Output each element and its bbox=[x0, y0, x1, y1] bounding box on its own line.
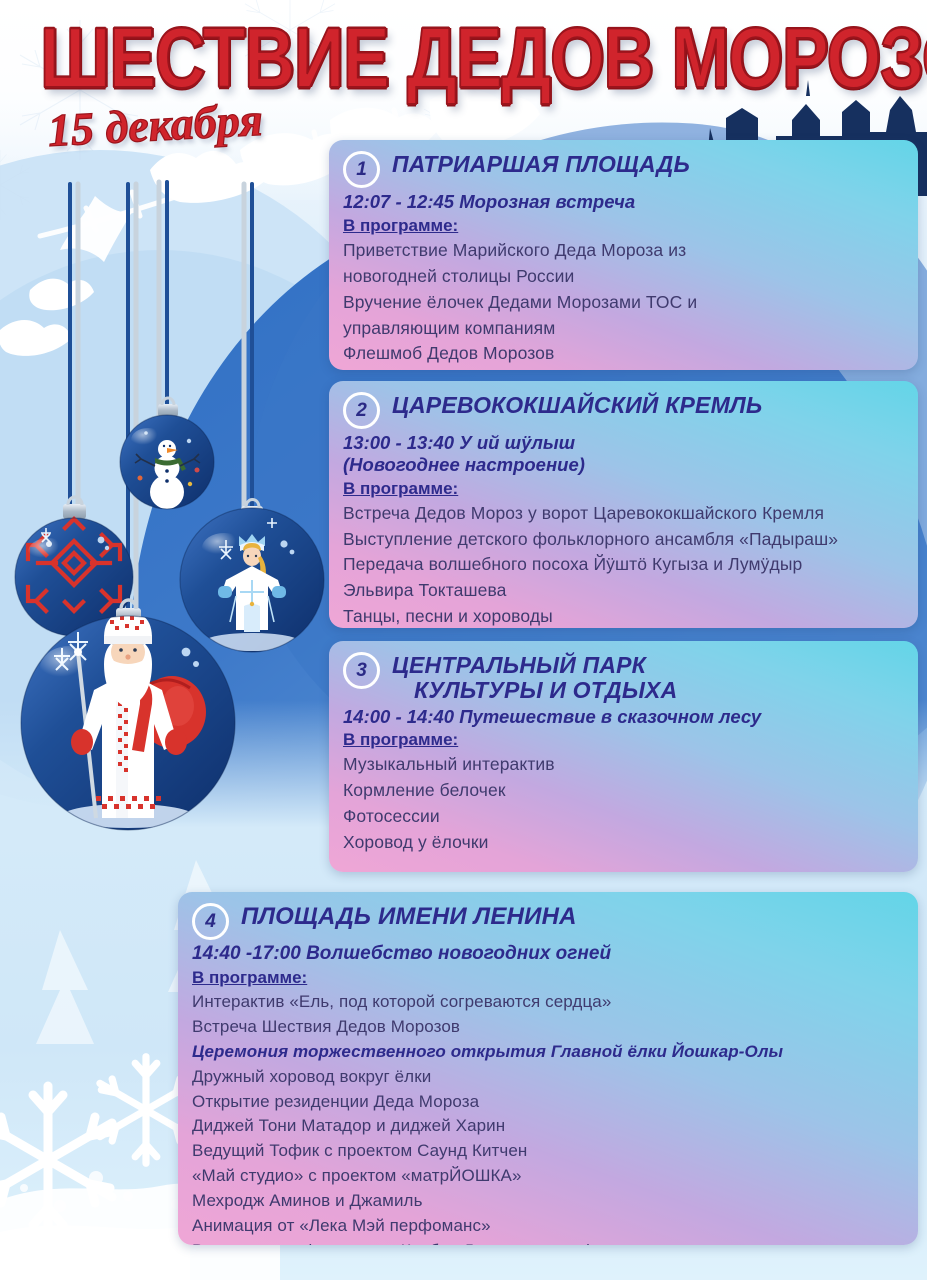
card-4-venue: ПЛОЩАДЬ ИМЕНИ ЛЕНИНА bbox=[241, 902, 577, 930]
card-1-venue-line1: ПАТРИАРШАЯ ПЛОЩАДЬ bbox=[392, 151, 690, 177]
card-2-items: Встреча Дедов Мороз у ворот Царевококшай… bbox=[343, 501, 904, 628]
card-1-program-label: В программе: bbox=[343, 216, 904, 236]
list-item: Приветствие Марийского Деда Мороза из bbox=[343, 238, 904, 264]
card-2-header: 2 ЦАРЕВОКОКШАЙСКИЙ КРЕМЛЬ bbox=[343, 391, 904, 429]
card-4-program-label: В программе: bbox=[192, 968, 904, 988]
list-item: управляющим компаниям bbox=[343, 316, 904, 342]
card-1-header: 1 ПАТРИАРШАЯ ПЛОЩАДЬ bbox=[343, 150, 904, 188]
card-2-time-line2: (Новогоднее настроение) bbox=[343, 454, 904, 476]
card-2-number-badge: 2 bbox=[343, 392, 380, 429]
card-1-time-line1: 12:07 - 12:45 Морозная встреча bbox=[343, 191, 635, 212]
card-4-number-badge: 4 bbox=[192, 903, 229, 940]
list-item: Вручение ёлочек Дедами Морозами ТОС и bbox=[343, 290, 904, 316]
list-item: Музыкальный интерактив bbox=[343, 752, 904, 778]
list-item: Передача волшебного посоха Йӱштӧ Кугыза … bbox=[343, 552, 904, 578]
list-item: Открытие резиденции Деда Мороза bbox=[192, 1090, 904, 1115]
list-item: Хоровод у ёлочки bbox=[343, 830, 904, 856]
list-item: Танцы, песни и хороводы bbox=[343, 604, 904, 628]
list-item: Ведущий Тофик с проектом Саунд Китчен bbox=[192, 1139, 904, 1164]
list-item: Фотосессии bbox=[343, 804, 904, 830]
list-item: Мехродж Аминов и Джамиль bbox=[192, 1189, 904, 1214]
list-item: Выступление детского фольклорного ансамб… bbox=[343, 527, 904, 553]
card-3-number-badge: 3 bbox=[343, 652, 380, 689]
program-card-2[interactable]: 2 ЦАРЕВОКОКШАЙСКИЙ КРЕМЛЬ 13:00 - 13:40 … bbox=[329, 381, 918, 628]
list-item: Выступление фигуристов Клуба «Движение» … bbox=[192, 1239, 904, 1245]
card-3-items: Музыкальный интерактив Кормление белочек… bbox=[343, 752, 904, 856]
card-1-items: Приветствие Марийского Деда Мороза из но… bbox=[343, 238, 904, 367]
card-4-items: Интерактив «Ель, под которой согреваются… bbox=[192, 990, 904, 1245]
list-item: Дружный хоровод вокруг ёлки bbox=[192, 1065, 904, 1090]
card-4-venue-line1: ПЛОЩАДЬ ИМЕНИ ЛЕНИНА bbox=[241, 903, 577, 930]
list-item: Интерактив «Ель, под которой согреваются… bbox=[192, 990, 904, 1015]
card-4-header: 4 ПЛОЩАДЬ ИМЕНИ ЛЕНИНА bbox=[192, 902, 904, 940]
card-2-time-line1: 13:00 - 13:40 У ий шӱлыш bbox=[343, 432, 575, 453]
poster-title: ШЕСТВИЕ ДЕДОВ МОРОЗОВ bbox=[40, 14, 927, 100]
card-2-venue-line1: ЦАРЕВОКОКШАЙСКИЙ КРЕМЛЬ bbox=[392, 392, 762, 418]
list-item: Флешмоб Дедов Морозов bbox=[343, 341, 904, 367]
card-4-time-line1: 14:40 -17:00 Волшебство новогодних огней bbox=[192, 943, 611, 964]
list-item: «Май студио» с проектом «матрЙОШКА» bbox=[192, 1164, 904, 1189]
list-item: Диджей Тони Матадор и диджей Харин bbox=[192, 1114, 904, 1139]
card-3-venue: ЦЕНТРАЛЬНЫЙ ПАРК КУЛЬТУРЫ И ОТДЫХА bbox=[392, 651, 677, 703]
card-2-program-label: В программе: bbox=[343, 479, 904, 499]
program-card-4[interactable]: 4 ПЛОЩАДЬ ИМЕНИ ЛЕНИНА 14:40 -17:00 Волш… bbox=[178, 892, 918, 1245]
card-3-venue-line1: ЦЕНТРАЛЬНЫЙ ПАРК bbox=[392, 652, 646, 678]
poster-date: 15 декабря bbox=[47, 93, 264, 157]
list-item: Кормление белочек bbox=[343, 778, 904, 804]
card-3-venue-line2: КУЛЬТУРЫ И ОТДЫХА bbox=[392, 678, 677, 703]
list-item: Встреча Шествия Дедов Морозов bbox=[192, 1015, 904, 1040]
card-1-number-badge: 1 bbox=[343, 151, 380, 188]
card-1-time: 12:07 - 12:45 Морозная встреча bbox=[343, 191, 904, 213]
list-item: Анимация от «Лека Мэй перфоманс» bbox=[192, 1214, 904, 1239]
card-3-time: 14:00 - 14:40 Путешествие в сказочном ле… bbox=[343, 706, 904, 728]
card-2-time: 13:00 - 13:40 У ий шӱлыш (Новогоднее нас… bbox=[343, 432, 904, 476]
list-item: Церемония торжественного открытия Главно… bbox=[192, 1040, 904, 1065]
card-2-venue: ЦАРЕВОКОКШАЙСКИЙ КРЕМЛЬ bbox=[392, 391, 762, 418]
card-3-header: 3 ЦЕНТРАЛЬНЫЙ ПАРК КУЛЬТУРЫ И ОТДЫХА bbox=[343, 651, 904, 703]
card-1-venue: ПАТРИАРШАЯ ПЛОЩАДЬ bbox=[392, 150, 690, 177]
card-3-program-label: В программе: bbox=[343, 730, 904, 750]
list-item: Эльвира Токташева bbox=[343, 578, 904, 604]
program-card-1[interactable]: 1 ПАТРИАРШАЯ ПЛОЩАДЬ 12:07 - 12:45 Мороз… bbox=[329, 140, 918, 370]
program-card-3[interactable]: 3 ЦЕНТРАЛЬНЫЙ ПАРК КУЛЬТУРЫ И ОТДЫХА 14:… bbox=[329, 641, 918, 872]
card-3-time-line1: 14:00 - 14:40 Путешествие в сказочном ле… bbox=[343, 706, 761, 727]
list-item: новогодней столицы России bbox=[343, 264, 904, 290]
poster-root: ШЕСТВИЕ ДЕДОВ МОРОЗОВ 15 декабря 1 ПАТРИ… bbox=[0, 0, 927, 1280]
card-4-time: 14:40 -17:00 Волшебство новогодних огней bbox=[192, 943, 904, 965]
list-item: Встреча Дедов Мороз у ворот Царевококшай… bbox=[343, 501, 904, 527]
